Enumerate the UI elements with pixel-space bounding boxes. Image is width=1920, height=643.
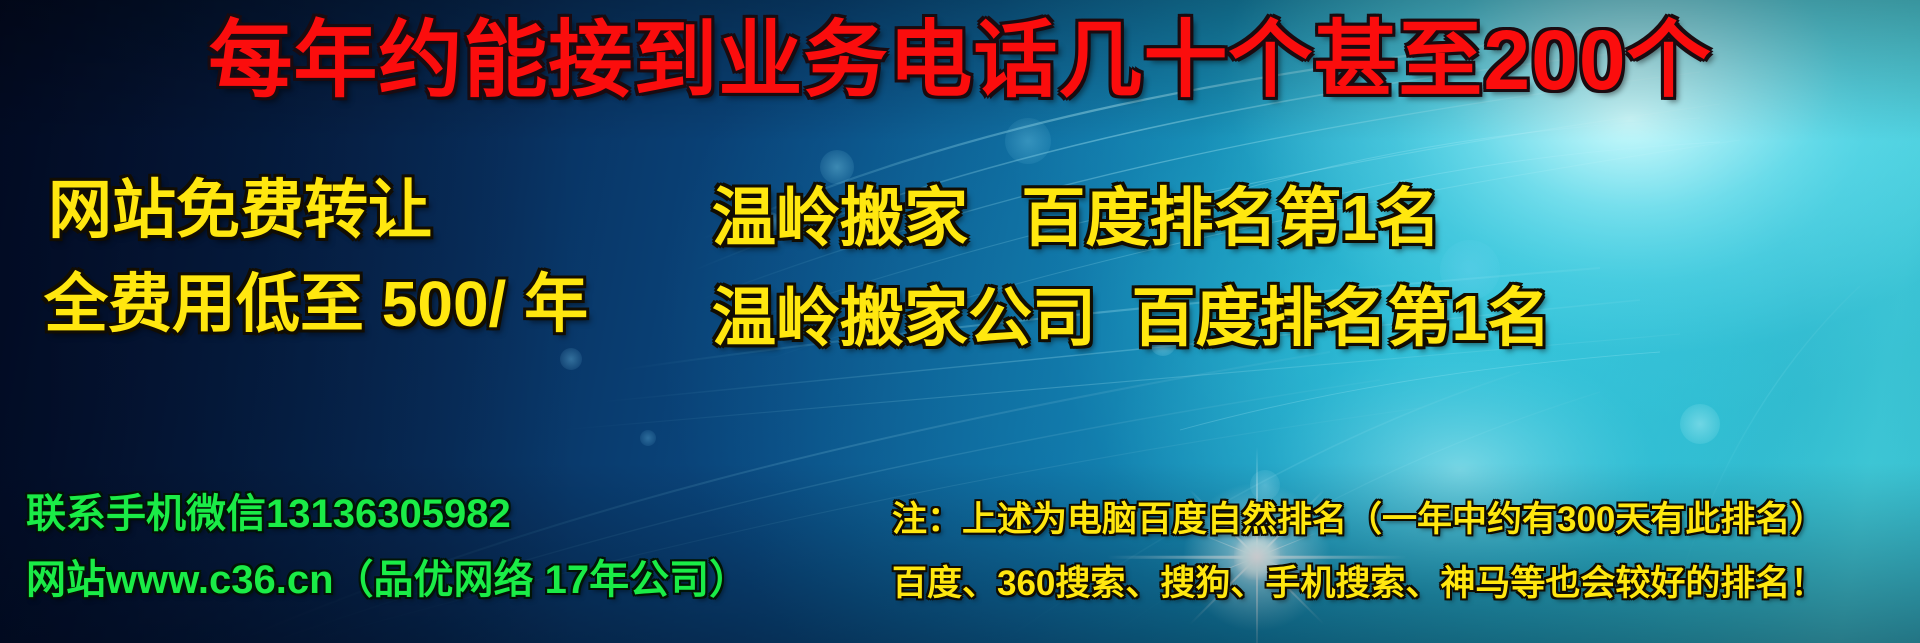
ranking-result: 百度排名第1名: [1132, 282, 1552, 354]
ranking-gap: [968, 182, 1021, 254]
note-line-2: 百度、360搜索、搜狗、手机搜索、神马等也会较好的排名！: [892, 566, 1825, 601]
ranking-keyword: 温岭搬家: [712, 182, 968, 254]
contact-phone-wechat: 联系手机微信13136305982: [26, 494, 511, 534]
promo-banner: 每年约能接到业务电话几十个甚至200个 网站免费转让 全费用低至 500/ 年 …: [0, 0, 1920, 643]
offer-line-2: 全费用低至 500/ 年: [44, 272, 588, 336]
ranking-row-1: 温岭搬家 百度排名第1名: [712, 186, 1441, 250]
ranking-row-2: 温岭搬家公司 百度排名第1名: [712, 286, 1551, 350]
note-line-1: 注：上述为电脑百度自然排名（一年中约有300天有此排名）: [892, 502, 1825, 537]
headline-text: 每年约能接到业务电话几十个甚至200个: [0, 18, 1920, 102]
ranking-gap: [1096, 282, 1132, 354]
ranking-keyword: 温岭搬家公司: [712, 282, 1096, 354]
banner-content: 每年约能接到业务电话几十个甚至200个 网站免费转让 全费用低至 500/ 年 …: [0, 0, 1920, 643]
contact-website: 网站www.c36.cn（品优网络 17年公司）: [26, 560, 749, 600]
ranking-result: 百度排名第1名: [1021, 182, 1441, 254]
offer-line-1: 网站免费转让: [48, 178, 432, 242]
